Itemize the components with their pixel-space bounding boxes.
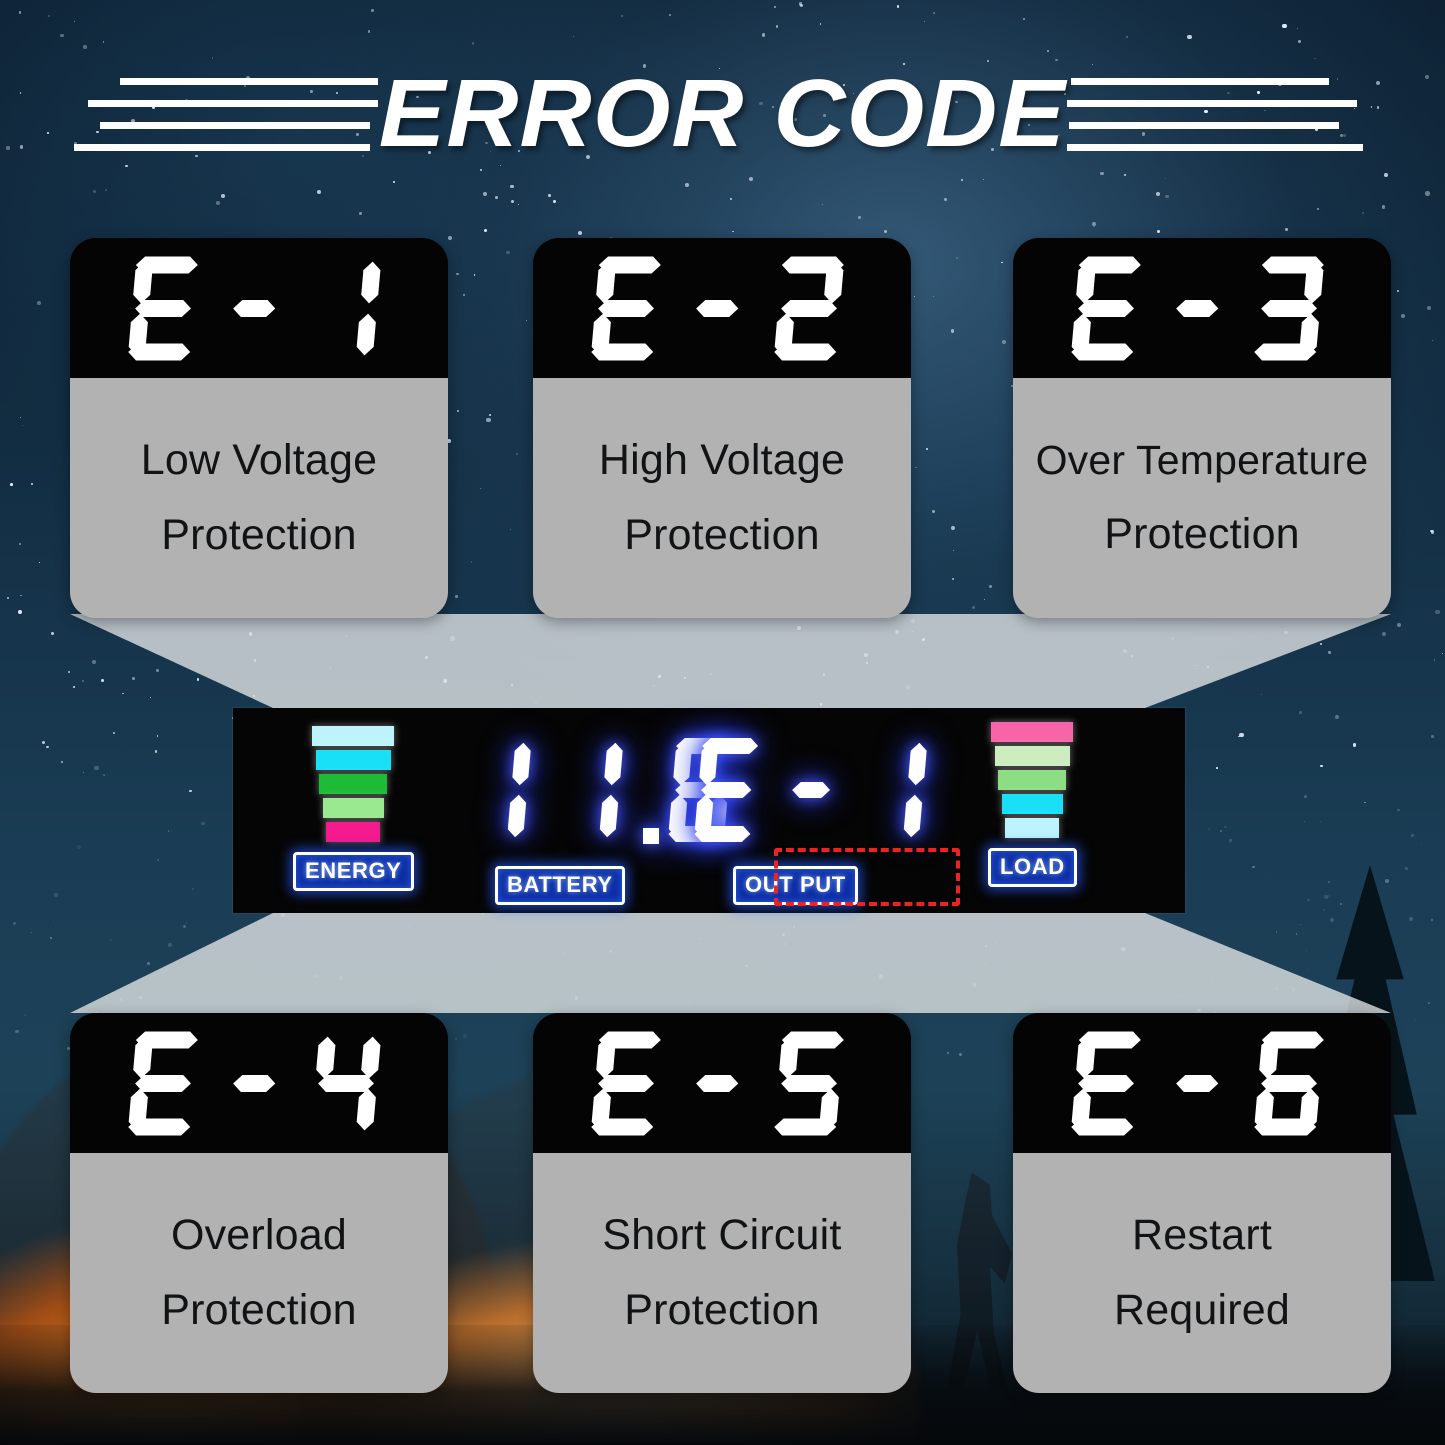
error-code-display — [1013, 1013, 1391, 1153]
load-gauge-bars — [991, 722, 1073, 838]
error-desc-line2: Protection — [624, 1286, 820, 1335]
gauge-segment — [323, 798, 384, 818]
error-desc-line1: Low Voltage — [141, 436, 378, 485]
error-description: Overload Protection — [70, 1153, 448, 1393]
error-card-e1[interactable]: Low Voltage Protection — [70, 238, 448, 618]
output-label: OUT PUT — [733, 866, 858, 905]
error-description: Over Temperature Protection — [1013, 378, 1391, 618]
gauge-segment — [995, 746, 1070, 766]
error-desc-line2: Required — [1114, 1286, 1290, 1335]
error-code-display — [533, 1013, 911, 1153]
error-desc-line1: High Voltage — [599, 436, 845, 485]
error-code-display — [533, 238, 911, 378]
seven-segment-e2 — [579, 248, 865, 369]
seven-segment-e1 — [116, 248, 402, 369]
device-lcd-panel[interactable]: ENERGY BATTERY OUT PUT LOAD — [233, 708, 1185, 913]
error-card-e4[interactable]: Overload Protection — [70, 1013, 448, 1393]
gauge-segment — [319, 774, 387, 794]
title-decor-lines-left — [60, 78, 378, 151]
error-card-e2[interactable]: High Voltage Protection — [533, 238, 911, 618]
error-card-e6[interactable]: Restart Required — [1013, 1013, 1391, 1393]
energy-gauge: ENERGY — [293, 726, 414, 891]
page-title: ERROR CODE — [364, 59, 1080, 169]
output-label-group: OUT PUT — [733, 856, 858, 905]
seven-segment-e5 — [579, 1023, 865, 1144]
error-description: Restart Required — [1013, 1153, 1391, 1393]
seven-segment-e4 — [116, 1023, 402, 1144]
error-desc-line2: Protection — [161, 1286, 357, 1335]
gauge-segment — [316, 750, 391, 770]
error-card-e3[interactable]: Over Temperature Protection — [1013, 238, 1391, 618]
battery-label: BATTERY — [495, 866, 625, 905]
error-desc-line1: Over Temperature — [1036, 437, 1369, 484]
gauge-segment — [998, 770, 1066, 790]
page-header: ERROR CODE — [0, 58, 1445, 170]
gauge-segment — [1005, 818, 1059, 838]
gauge-segment — [312, 726, 394, 746]
error-description: High Voltage Protection — [533, 378, 911, 618]
energy-label: ENERGY — [293, 852, 414, 891]
error-card-e5[interactable]: Short Circuit Protection — [533, 1013, 911, 1393]
error-code-display — [70, 1013, 448, 1153]
gauge-segment — [326, 822, 380, 842]
gauge-segment — [991, 722, 1073, 742]
energy-gauge-bars — [312, 726, 394, 842]
error-description: Short Circuit Protection — [533, 1153, 911, 1393]
output-error-readout — [683, 730, 948, 850]
gauge-segment — [1002, 794, 1063, 814]
title-decor-lines-right — [1067, 78, 1385, 151]
error-desc-line1: Overload — [171, 1211, 347, 1260]
error-desc-line1: Short Circuit — [602, 1211, 841, 1260]
error-desc-line1: Restart — [1132, 1211, 1272, 1260]
load-gauge: LOAD — [988, 722, 1077, 887]
error-code-display — [70, 238, 448, 378]
error-code-display — [1013, 238, 1391, 378]
error-desc-line2: Protection — [1104, 510, 1300, 559]
error-desc-line2: Protection — [161, 511, 357, 560]
error-description: Low Voltage Protection — [70, 378, 448, 618]
seven-segment-e3 — [1059, 248, 1345, 369]
error-desc-line2: Protection — [624, 511, 820, 560]
battery-label-group: BATTERY — [495, 856, 625, 905]
load-label: LOAD — [988, 848, 1077, 887]
seven-segment-e6 — [1059, 1023, 1345, 1144]
